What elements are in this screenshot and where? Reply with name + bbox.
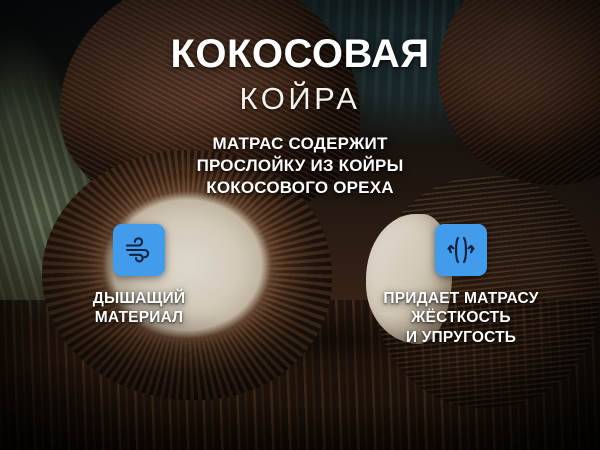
feature-elasticity: ПРИДАЕТ МАТРАСУ ЖЁСТКОСТЬ И УПРУГОСТЬ [356,224,566,347]
poster-content: КОКОСОВАЯ КОЙРА МАТРАС СОДЕРЖИТ ПРОСЛОЙК… [0,0,600,450]
page-subtitle: КОЙРА [240,83,361,114]
coconut-coir-promo-banner: КОКОСОВАЯ КОЙРА МАТРАС СОДЕРЖИТ ПРОСЛОЙК… [0,0,600,450]
feature-breathable-label: ДЫШАЩИЙ МАТЕРИАЛ [93,289,185,327]
page-title: КОКОСОВАЯ [170,34,429,74]
feature-breathable: ДЫШАЩИЙ МАТЕРИАЛ [34,224,244,347]
description-text: МАТРАС СОДЕРЖИТ ПРОСЛОЙКУ ИЗ КОЙРЫ КОКОС… [197,133,404,198]
feature-elasticity-label: ПРИДАЕТ МАТРАСУ ЖЁСТКОСТЬ И УПРУГОСТЬ [383,289,538,347]
elasticity-icon [435,224,487,276]
feature-list: ДЫШАЩИЙ МАТЕРИАЛ ПРИДАЕТ МАТРАСУ ЖЁСТКОС… [0,224,600,347]
wind-icon [113,224,165,276]
